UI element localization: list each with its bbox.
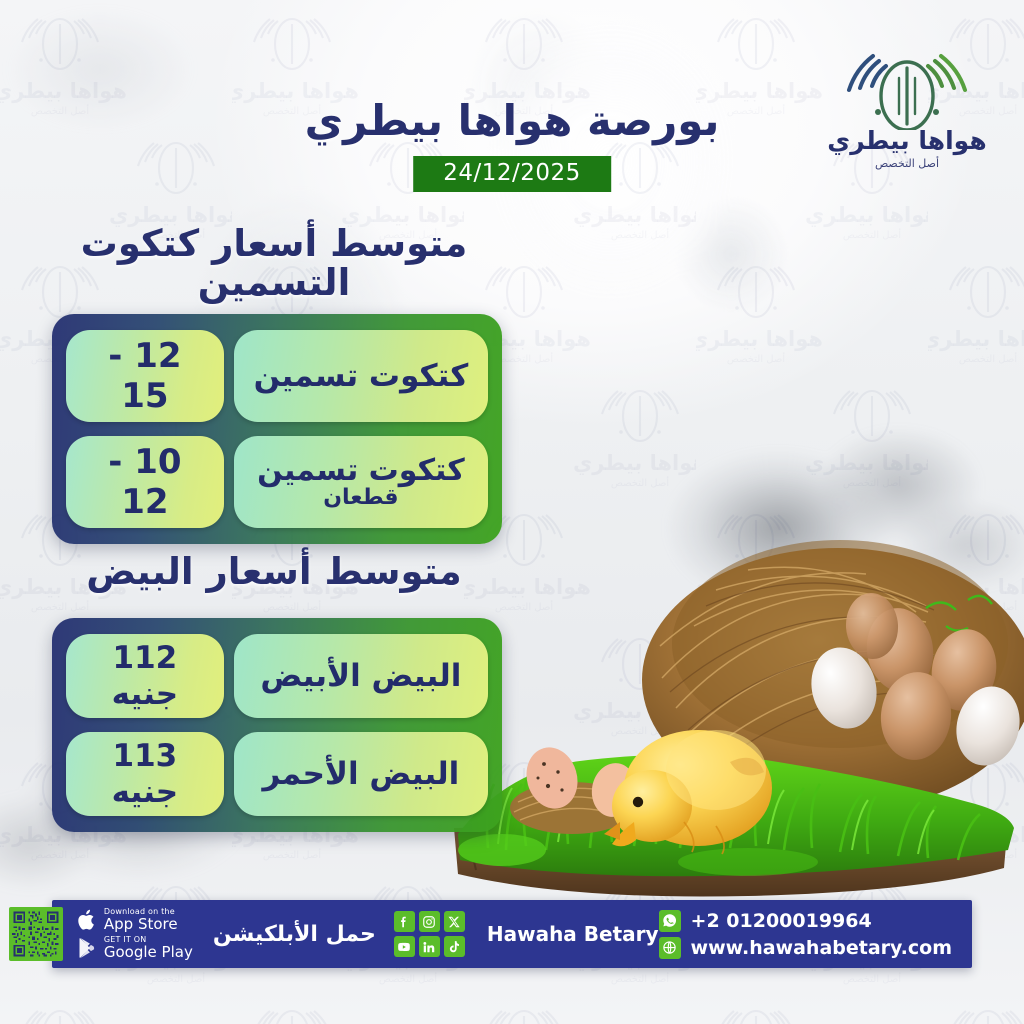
price-value-pill: 10 - 12 — [66, 436, 224, 528]
price-value-text: 12 - 15 — [80, 336, 210, 416]
website-row[interactable]: www.hawahabetary.com — [659, 937, 952, 959]
apple-icon — [77, 908, 97, 932]
price-label-pill: البيض الأبيض — [234, 634, 488, 718]
price-row: البيض الأبيض 112 جنيه — [66, 634, 488, 718]
date-badge: 24/12/2025 — [413, 156, 611, 192]
price-value-pill: 113 جنيه — [66, 732, 224, 816]
section-heading-chicks: متوسط أسعار كتكوت التسمين — [48, 224, 500, 302]
price-label-pill: البيض الأحمر — [234, 732, 488, 816]
price-label-text: البيض الأحمر — [263, 758, 460, 791]
price-row: البيض الأحمر 113 جنيه — [66, 732, 488, 816]
qr-code[interactable] — [9, 907, 63, 961]
x-twitter-icon[interactable] — [444, 911, 465, 932]
price-label-pill: كتكوت تسمين — [234, 330, 488, 422]
globe-icon[interactable] — [659, 937, 681, 959]
youtube-icon[interactable] — [394, 936, 415, 957]
price-label-text: البيض الأبيض — [260, 660, 461, 693]
social-icons-group — [394, 911, 465, 957]
phone-number: +2 01200019964 — [691, 910, 872, 932]
google-play-label: Google Play — [104, 945, 193, 960]
price-value-text: 10 - 12 — [80, 442, 210, 522]
price-card-chicks: كتكوت تسمين 12 - 15 كتكوت تسمين قطعان 10… — [52, 314, 502, 544]
price-value-text: 112 جنيه — [80, 640, 210, 712]
price-label-pill: كتكوت تسمين قطعان — [234, 436, 488, 528]
whatsapp-icon[interactable] — [659, 910, 681, 932]
price-value-pill: 112 جنيه — [66, 634, 224, 718]
google-play-badge[interactable]: GET IT ON Google Play — [77, 936, 193, 960]
instagram-icon[interactable] — [419, 911, 440, 932]
app-store-badge[interactable]: Download on the App Store — [77, 908, 193, 932]
page-title: بورصة هواها بيطري — [0, 96, 1024, 145]
footer-bar: +2 01200019964 www.hawahabetary.com Hawa… — [52, 900, 972, 968]
facebook-icon[interactable] — [394, 911, 415, 932]
price-card-eggs: البيض الأبيض 112 جنيه البيض الأحمر 113 ج… — [52, 618, 502, 832]
price-row: كتكوت تسمين 12 - 15 — [66, 330, 488, 422]
price-label-text: كتكوت تسمين — [257, 455, 465, 487]
price-label-sub: قطعان — [323, 486, 398, 509]
price-value-text: 113 جنيه — [80, 738, 210, 810]
logo-tagline: أصل التخصص — [816, 157, 998, 170]
poster-canvas: هواها بيطري أصل التخصص — [0, 0, 1024, 1024]
contact-block: +2 01200019964 www.hawahabetary.com — [659, 910, 952, 959]
tiktok-icon[interactable] — [444, 936, 465, 957]
price-label-text: كتكوت تسمين — [254, 360, 469, 393]
price-row: كتكوت تسمين قطعان 10 - 12 — [66, 436, 488, 528]
app-store-label: App Store — [104, 917, 178, 932]
price-value-pill: 12 - 15 — [66, 330, 224, 422]
nest-chick-eggs-photo — [448, 430, 1024, 910]
phone-row[interactable]: +2 01200019964 — [659, 910, 952, 932]
brand-name: Hawaha Betary — [487, 922, 659, 946]
website-url: www.hawahabetary.com — [691, 937, 952, 959]
linkedin-icon[interactable] — [419, 936, 440, 957]
download-app-cta: حمل الأبلكيشن — [213, 922, 376, 947]
store-badges-group: Download on the App Store GET IT ON Goog… — [77, 908, 193, 960]
google-play-icon — [77, 937, 97, 959]
section-heading-eggs: متوسط أسعار البيض — [48, 552, 500, 591]
